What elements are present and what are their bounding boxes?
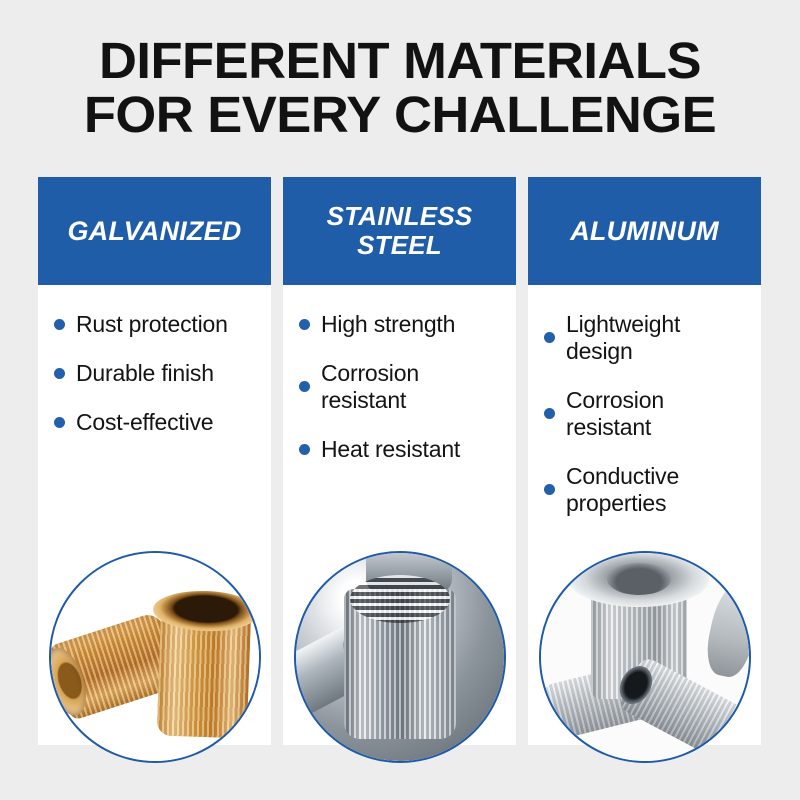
- photo-image-aluminum: [541, 553, 749, 761]
- product-photo-galvanized: [49, 551, 261, 763]
- feature-text: High strength: [321, 311, 455, 338]
- bullet-dot-icon: [299, 444, 310, 455]
- product-photo-aluminum: [539, 551, 751, 763]
- photo-circle-frame: [49, 551, 261, 763]
- bullet-dot-icon: [54, 417, 65, 428]
- product-photo-stainless-steel: [294, 551, 506, 763]
- infographic-poster: DIFFERENT MATERIALS FOR EVERY CHALLENGE …: [0, 0, 800, 800]
- list-item: Heat resistant: [299, 436, 504, 463]
- card-title-stainless-steel: STAINLESS STEEL: [293, 202, 506, 260]
- bullet-dot-icon: [544, 484, 555, 495]
- feature-text: Durable finish: [76, 360, 214, 387]
- list-item: Corrosion resistant: [299, 360, 504, 414]
- feature-text: Heat resistant: [321, 436, 460, 463]
- photo-circle-frame: [539, 551, 751, 763]
- list-item: High strength: [299, 311, 504, 338]
- material-card-aluminum[interactable]: ALUMINUM Lightweight design Corrosion re…: [528, 177, 761, 745]
- card-header-galvanized: GALVANIZED: [38, 177, 271, 285]
- list-item: Conductive properties: [544, 463, 749, 517]
- title-line-2: FOR EVERY CHALLENGE: [0, 88, 800, 142]
- material-card-galvanized[interactable]: GALVANIZED Rust protection Durable finis…: [38, 177, 271, 745]
- card-title-aluminum: ALUMINUM: [570, 216, 719, 246]
- card-header-stainless-steel: STAINLESS STEEL: [283, 177, 516, 285]
- photo-image-galvanized: [51, 553, 259, 761]
- card-title-galvanized: GALVANIZED: [67, 216, 241, 246]
- feature-text: Cost-effective: [76, 409, 213, 436]
- feature-text: Conductive properties: [566, 463, 749, 517]
- feature-text: Lightweight design: [566, 311, 749, 365]
- list-item: Rust protection: [54, 311, 259, 338]
- list-item: Corrosion resistant: [544, 387, 749, 441]
- material-cards-row: GALVANIZED Rust protection Durable finis…: [38, 177, 763, 745]
- feature-text: Corrosion resistant: [566, 387, 749, 441]
- feature-list-aluminum: Lightweight design Corrosion resistant C…: [528, 285, 761, 538]
- bullet-dot-icon: [544, 408, 555, 419]
- feature-text: Rust protection: [76, 311, 228, 338]
- list-item: Cost-effective: [54, 409, 259, 436]
- bullet-dot-icon: [544, 332, 555, 343]
- list-item: Lightweight design: [544, 311, 749, 365]
- feature-list-stainless-steel: High strength Corrosion resistant Heat r…: [283, 285, 516, 485]
- card-header-aluminum: ALUMINUM: [528, 177, 761, 285]
- rivet-nut-shape: [344, 589, 456, 739]
- rivet-nut-shape: [156, 603, 251, 738]
- title-line-1: DIFFERENT MATERIALS: [0, 34, 800, 88]
- bullet-dot-icon: [299, 319, 310, 330]
- bullet-dot-icon: [54, 368, 65, 379]
- feature-list-galvanized: Rust protection Durable finish Cost-effe…: [38, 285, 271, 458]
- page-title: DIFFERENT MATERIALS FOR EVERY CHALLENGE: [0, 34, 800, 142]
- list-item: Durable finish: [54, 360, 259, 387]
- feature-text: Corrosion resistant: [321, 360, 504, 414]
- bullet-dot-icon: [299, 381, 310, 392]
- photo-image-stainless-steel: [296, 553, 504, 761]
- photo-circle-frame: [294, 551, 506, 763]
- bullet-dot-icon: [54, 319, 65, 330]
- material-card-stainless-steel[interactable]: STAINLESS STEEL High strength Corrosion …: [283, 177, 516, 745]
